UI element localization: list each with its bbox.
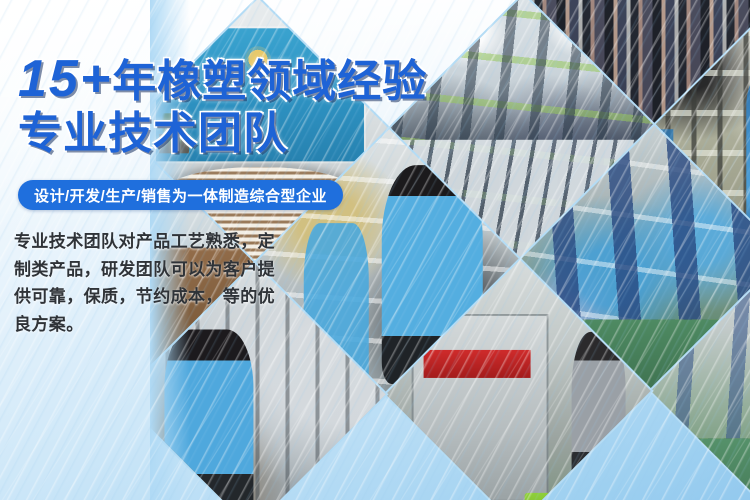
headline-line-2: 专业技术团队 (18, 111, 438, 158)
years-count: 15+ (18, 50, 112, 108)
description-text: 专业技术团队对产品工艺熟悉，定制类产品，研发团队可以为客户提供可靠，保质，节约成… (14, 228, 276, 338)
headline-line-1-text: 年橡塑领域经验 (112, 57, 427, 106)
tagline-pill: 设计/开发/生产/销售为一体制造综合型企业 (18, 180, 343, 210)
promo-banner: 15+年橡塑领域经验 专业技术团队 设计/开发/生产/销售为一体制造综合型企业 … (0, 0, 750, 500)
headline-block: 15+年橡塑领域经验 专业技术团队 (18, 52, 438, 158)
headline-line-1: 15+年橡塑领域经验 (18, 52, 438, 107)
text-column: 15+年橡塑领域经验 专业技术团队 设计/开发/生产/销售为一体制造综合型企业 … (0, 0, 430, 500)
